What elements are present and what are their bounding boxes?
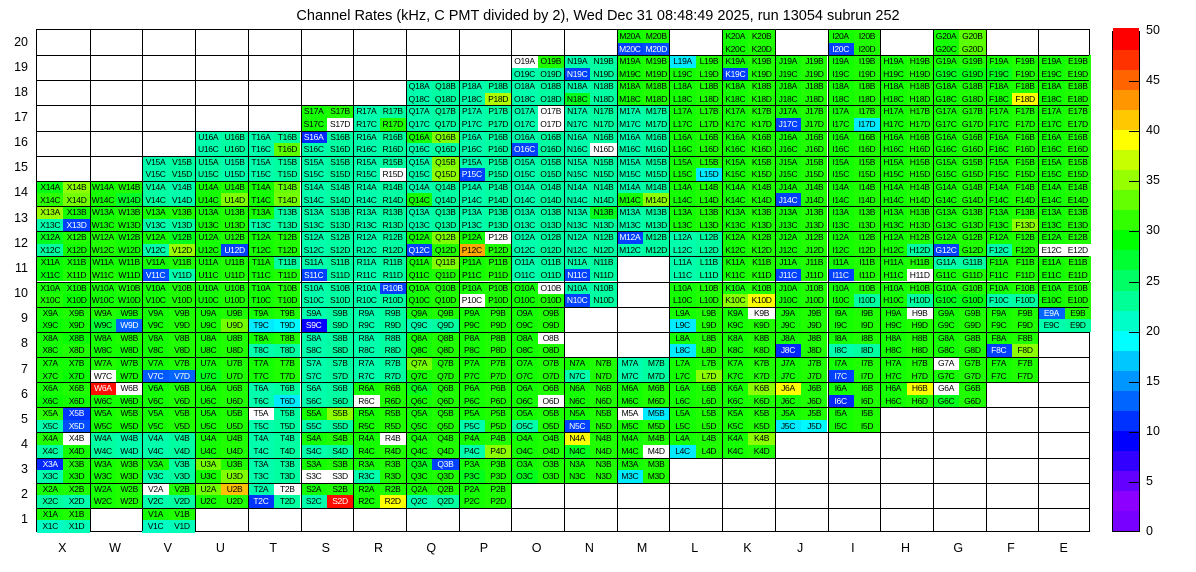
channel-cell[interactable]: O18D <box>538 93 564 106</box>
channel-cell[interactable]: G14C <box>933 193 959 206</box>
channel-cell[interactable]: M15D <box>643 168 669 181</box>
channel-cell[interactable]: G7D <box>959 370 985 383</box>
channel-cell[interactable]: S6A <box>301 382 327 395</box>
channel-cell[interactable]: P2A <box>459 483 485 496</box>
channel-cell[interactable]: P3A <box>459 458 485 471</box>
channel-cell[interactable]: T11D <box>274 269 300 282</box>
channel-cell[interactable]: Q14A <box>406 181 432 194</box>
channel-cell[interactable]: J18A <box>775 80 801 93</box>
channel-cell[interactable]: R2A <box>353 483 379 496</box>
channel-cell[interactable]: E11B <box>1065 256 1091 269</box>
channel-cell[interactable]: R14B <box>380 181 406 194</box>
channel-cell[interactable]: F18A <box>986 80 1012 93</box>
channel-cell[interactable]: T4D <box>274 445 300 458</box>
channel-cell[interactable]: L6A <box>669 382 695 395</box>
channel-cell[interactable]: V5C <box>142 420 168 433</box>
channel-cell[interactable]: J13C <box>775 219 801 232</box>
channel-cell[interactable]: K14B <box>748 181 774 194</box>
channel-cell[interactable]: F16D <box>1012 143 1038 156</box>
channel-cell[interactable]: E9D <box>1065 319 1091 332</box>
channel-cell[interactable]: W6D <box>116 395 142 408</box>
channel-cell[interactable]: X8B <box>63 332 89 345</box>
channel-cell[interactable]: F15B <box>1012 156 1038 169</box>
channel-cell[interactable]: K6C <box>722 395 748 408</box>
channel-cell[interactable]: J7B <box>801 357 827 370</box>
channel-cell[interactable]: X4D <box>63 445 89 458</box>
channel-cell[interactable]: J14A <box>775 181 801 194</box>
channel-cell[interactable]: W6B <box>116 382 142 395</box>
channel-cell[interactable]: U13C <box>195 219 221 232</box>
channel-cell[interactable]: U2B <box>221 483 247 496</box>
channel-cell[interactable]: W2C <box>90 495 116 508</box>
channel-cell[interactable]: L8D <box>696 344 722 357</box>
channel-cell[interactable]: F12A <box>986 231 1012 244</box>
channel-cell[interactable]: I9D <box>854 319 880 332</box>
channel-cell[interactable]: H12D <box>907 244 933 257</box>
channel-cell[interactable]: X7B <box>63 357 89 370</box>
channel-cell[interactable]: V14A <box>142 181 168 194</box>
channel-cell[interactable]: J16C <box>775 143 801 156</box>
channel-cell[interactable]: E18A <box>1038 80 1064 93</box>
channel-cell[interactable]: P6B <box>485 382 511 395</box>
channel-cell[interactable]: H15C <box>880 168 906 181</box>
channel-cell[interactable]: Q11A <box>406 256 432 269</box>
channel-cell[interactable]: I10B <box>854 282 880 295</box>
channel-cell[interactable]: M20C <box>617 43 643 56</box>
channel-cell[interactable]: J8B <box>801 332 827 345</box>
channel-cell[interactable]: V1D <box>169 520 195 533</box>
channel-cell[interactable]: T5C <box>248 420 274 433</box>
channel-cell[interactable]: L18A <box>669 80 695 93</box>
channel-cell[interactable]: T15C <box>248 168 274 181</box>
channel-cell[interactable]: F11B <box>1012 256 1038 269</box>
channel-cell[interactable]: G20B <box>959 30 985 43</box>
channel-cell[interactable]: E15B <box>1065 156 1091 169</box>
channel-cell[interactable]: Q12B <box>432 231 458 244</box>
channel-cell[interactable]: L15D <box>696 168 722 181</box>
channel-cell[interactable]: W4C <box>90 445 116 458</box>
channel-cell[interactable]: L9C <box>669 319 695 332</box>
channel-cell[interactable]: Q17B <box>432 105 458 118</box>
channel-cell[interactable]: R3D <box>380 470 406 483</box>
channel-cell[interactable]: V13A <box>142 206 168 219</box>
channel-cell[interactable]: L4A <box>669 432 695 445</box>
channel-cell[interactable]: S3A <box>301 458 327 471</box>
channel-cell[interactable]: P14B <box>485 181 511 194</box>
channel-cell[interactable]: E11C <box>1038 269 1064 282</box>
channel-cell[interactable]: Q9D <box>432 319 458 332</box>
channel-cell[interactable]: Q3C <box>406 470 432 483</box>
channel-cell[interactable]: E10D <box>1065 294 1091 307</box>
channel-cell[interactable]: P8A <box>459 332 485 345</box>
channel-cell[interactable]: I20C <box>828 43 854 56</box>
channel-cell[interactable]: W7C <box>90 370 116 383</box>
channel-cell[interactable]: K20D <box>748 43 774 56</box>
channel-cell[interactable]: I10A <box>828 282 854 295</box>
channel-cell[interactable]: W7A <box>90 357 116 370</box>
channel-cell[interactable]: H9B <box>907 307 933 320</box>
channel-cell[interactable]: S2D <box>327 495 353 508</box>
channel-cell[interactable]: J19C <box>775 68 801 81</box>
channel-cell[interactable]: K7D <box>748 370 774 383</box>
channel-cell[interactable]: L6D <box>696 395 722 408</box>
channel-cell[interactable]: E15C <box>1038 168 1064 181</box>
channel-cell[interactable]: F12C <box>986 244 1012 257</box>
channel-cell[interactable]: K15D <box>748 168 774 181</box>
channel-cell[interactable]: X2C <box>37 495 63 508</box>
channel-cell[interactable]: X3C <box>37 470 63 483</box>
channel-cell[interactable]: G8C <box>933 344 959 357</box>
channel-cell[interactable]: R13C <box>353 219 379 232</box>
channel-cell[interactable]: G18B <box>959 80 985 93</box>
channel-cell[interactable]: U6A <box>195 382 221 395</box>
channel-cell[interactable]: O4C <box>511 445 537 458</box>
channel-cell[interactable]: J11B <box>801 256 827 269</box>
channel-cell[interactable]: Q11C <box>406 269 432 282</box>
channel-cell[interactable]: N11C <box>564 269 590 282</box>
channel-cell[interactable]: R2D <box>380 495 406 508</box>
channel-cell[interactable]: R4A <box>353 432 379 445</box>
channel-cell[interactable]: L8A <box>669 332 695 345</box>
channel-cell[interactable]: G16B <box>959 131 985 144</box>
channel-cell[interactable]: P11A <box>459 256 485 269</box>
channel-cell[interactable]: P13C <box>459 219 485 232</box>
channel-cell[interactable]: N14C <box>564 193 590 206</box>
channel-cell[interactable]: F9A <box>986 307 1012 320</box>
channel-cell[interactable]: O4D <box>538 445 564 458</box>
channel-cell[interactable]: L12D <box>696 244 722 257</box>
channel-cell[interactable]: V15B <box>169 156 195 169</box>
channel-cell[interactable]: K8B <box>748 332 774 345</box>
channel-cell[interactable]: I15D <box>854 168 880 181</box>
channel-cell[interactable]: G18A <box>933 80 959 93</box>
channel-cell[interactable]: W10D <box>116 294 142 307</box>
channel-cell[interactable]: W12D <box>116 244 142 257</box>
channel-cell[interactable]: S13C <box>301 219 327 232</box>
channel-cell[interactable]: R16B <box>380 131 406 144</box>
channel-cell[interactable]: N16A <box>564 131 590 144</box>
channel-cell[interactable]: V12B <box>169 231 195 244</box>
channel-cell[interactable]: O19A <box>511 55 537 68</box>
channel-cell[interactable]: L17D <box>696 118 722 131</box>
channel-cell[interactable]: T11C <box>248 269 274 282</box>
channel-cell[interactable]: F13A <box>986 206 1012 219</box>
channel-cell[interactable]: L17A <box>669 105 695 118</box>
channel-cell[interactable]: W2B <box>116 483 142 496</box>
channel-cell[interactable]: N3A <box>564 458 590 471</box>
channel-cell[interactable]: H7D <box>907 370 933 383</box>
channel-cell[interactable]: E14A <box>1038 181 1064 194</box>
channel-cell[interactable]: G6A <box>933 382 959 395</box>
channel-cell[interactable]: J19B <box>801 55 827 68</box>
channel-cell[interactable]: R10C <box>353 294 379 307</box>
channel-cell[interactable]: E16B <box>1065 131 1091 144</box>
channel-cell[interactable]: J9C <box>775 319 801 332</box>
channel-cell[interactable]: V15C <box>142 168 168 181</box>
channel-cell[interactable]: Q18A <box>406 80 432 93</box>
channel-cell[interactable]: J17A <box>775 105 801 118</box>
channel-cell[interactable]: U4C <box>195 445 221 458</box>
channel-cell[interactable]: Q8B <box>432 332 458 345</box>
channel-cell[interactable]: E17B <box>1065 105 1091 118</box>
channel-cell[interactable]: L17C <box>669 118 695 131</box>
channel-cell[interactable]: S5B <box>327 407 353 420</box>
channel-cell[interactable]: K17C <box>722 118 748 131</box>
channel-cell[interactable]: G12C <box>933 244 959 257</box>
channel-cell[interactable]: Q4C <box>406 445 432 458</box>
channel-cell[interactable]: L10A <box>669 282 695 295</box>
channel-cell[interactable]: K12D <box>748 244 774 257</box>
channel-cell[interactable]: O8A <box>511 332 537 345</box>
channel-cell[interactable]: F9D <box>1012 319 1038 332</box>
channel-cell[interactable]: X10B <box>63 282 89 295</box>
channel-cell[interactable]: R10D <box>380 294 406 307</box>
channel-cell[interactable]: N11D <box>590 269 616 282</box>
channel-cell[interactable]: R11D <box>380 269 406 282</box>
channel-cell[interactable]: X4C <box>37 445 63 458</box>
channel-cell[interactable]: G19C <box>933 68 959 81</box>
channel-cell[interactable]: R15D <box>380 168 406 181</box>
channel-cell[interactable]: N10D <box>590 294 616 307</box>
channel-cell[interactable]: V14B <box>169 181 195 194</box>
channel-cell[interactable]: M12D <box>643 244 669 257</box>
channel-cell[interactable]: R12B <box>380 231 406 244</box>
channel-cell[interactable]: U3D <box>221 470 247 483</box>
channel-cell[interactable]: N13A <box>564 206 590 219</box>
channel-cell[interactable]: O6D <box>538 395 564 408</box>
channel-cell[interactable]: H7A <box>880 357 906 370</box>
channel-cell[interactable]: H9D <box>907 319 933 332</box>
channel-cell[interactable]: S6D <box>327 395 353 408</box>
channel-cell[interactable]: L5B <box>696 407 722 420</box>
channel-cell[interactable]: H15A <box>880 156 906 169</box>
channel-cell[interactable]: M18C <box>617 93 643 106</box>
channel-cell[interactable]: N15A <box>564 156 590 169</box>
channel-cell[interactable]: J5B <box>801 407 827 420</box>
channel-cell[interactable]: X12B <box>63 231 89 244</box>
channel-cell[interactable]: O9C <box>511 319 537 332</box>
channel-cell[interactable]: Q15C <box>406 168 432 181</box>
channel-cell[interactable]: Q5C <box>406 420 432 433</box>
channel-cell[interactable]: O11B <box>538 256 564 269</box>
channel-cell[interactable]: H15B <box>907 156 933 169</box>
channel-cell[interactable]: L13B <box>696 206 722 219</box>
channel-cell[interactable]: L6C <box>669 395 695 408</box>
channel-cell[interactable]: I11B <box>854 256 880 269</box>
channel-cell[interactable]: J10C <box>775 294 801 307</box>
channel-cell[interactable]: F14B <box>1012 181 1038 194</box>
channel-cell[interactable]: Q15A <box>406 156 432 169</box>
channel-cell[interactable]: X6C <box>37 395 63 408</box>
channel-cell[interactable]: G16D <box>959 143 985 156</box>
channel-cell[interactable]: P16D <box>485 143 511 156</box>
channel-cell[interactable]: M3B <box>643 458 669 471</box>
channel-cell[interactable]: I12B <box>854 231 880 244</box>
channel-cell[interactable]: I14A <box>828 181 854 194</box>
channel-cell[interactable]: P6D <box>485 395 511 408</box>
channel-cell[interactable]: T2D <box>274 495 300 508</box>
channel-cell[interactable]: J6B <box>801 382 827 395</box>
channel-cell[interactable]: I18D <box>854 93 880 106</box>
channel-cell[interactable]: G6B <box>959 382 985 395</box>
channel-cell[interactable]: K15B <box>748 156 774 169</box>
channel-cell[interactable]: M20B <box>643 30 669 43</box>
channel-cell[interactable]: U10B <box>221 282 247 295</box>
channel-cell[interactable]: T12B <box>274 231 300 244</box>
channel-cell[interactable]: E12A <box>1038 231 1064 244</box>
channel-cell[interactable]: Q9B <box>432 307 458 320</box>
channel-cell[interactable]: Q8C <box>406 344 432 357</box>
channel-cell[interactable]: K11A <box>722 256 748 269</box>
channel-cell[interactable]: L15A <box>669 156 695 169</box>
channel-cell[interactable]: G20A <box>933 30 959 43</box>
channel-cell[interactable]: I13C <box>828 219 854 232</box>
channel-cell[interactable]: N12C <box>564 244 590 257</box>
channel-cell[interactable]: J7C <box>775 370 801 383</box>
channel-cell[interactable]: M14A <box>617 181 643 194</box>
channel-cell[interactable]: L16D <box>696 143 722 156</box>
channel-cell[interactable]: S15B <box>327 156 353 169</box>
channel-cell[interactable]: Q5B <box>432 407 458 420</box>
channel-cell[interactable]: K19A <box>722 55 748 68</box>
channel-cell[interactable]: J18D <box>801 93 827 106</box>
channel-cell[interactable]: G17B <box>959 105 985 118</box>
channel-cell[interactable]: E11D <box>1065 269 1091 282</box>
channel-cell[interactable]: O19B <box>538 55 564 68</box>
channel-cell[interactable]: N13C <box>564 219 590 232</box>
channel-cell[interactable]: Q3D <box>432 470 458 483</box>
channel-cell[interactable]: W13D <box>116 219 142 232</box>
channel-cell[interactable]: O17A <box>511 105 537 118</box>
channel-cell[interactable]: S11B <box>327 256 353 269</box>
channel-cell[interactable]: E12C <box>1038 244 1064 257</box>
channel-cell[interactable]: V7D <box>169 370 195 383</box>
channel-cell[interactable]: U8A <box>195 332 221 345</box>
channel-cell[interactable]: M4D <box>643 445 669 458</box>
channel-cell[interactable]: V7C <box>142 370 168 383</box>
channel-cell[interactable]: R3C <box>353 470 379 483</box>
channel-cell[interactable]: T16A <box>248 131 274 144</box>
channel-cell[interactable]: V2D <box>169 495 195 508</box>
channel-cell[interactable]: O13C <box>511 219 537 232</box>
channel-cell[interactable]: V15A <box>142 156 168 169</box>
channel-cell[interactable]: W8C <box>90 344 116 357</box>
channel-cell[interactable]: F19B <box>1012 55 1038 68</box>
channel-cell[interactable]: E18D <box>1065 93 1091 106</box>
channel-cell[interactable]: E9A <box>1038 307 1064 320</box>
channel-cell[interactable]: I14C <box>828 193 854 206</box>
channel-cell[interactable]: V2C <box>142 495 168 508</box>
channel-cell[interactable]: T13C <box>248 219 274 232</box>
channel-cell[interactable]: N4C <box>564 445 590 458</box>
channel-cell[interactable]: U7B <box>221 357 247 370</box>
channel-cell[interactable]: O15D <box>538 168 564 181</box>
channel-cell[interactable]: H8C <box>880 344 906 357</box>
channel-cell[interactable]: I5A <box>828 407 854 420</box>
channel-cell[interactable]: P5C <box>459 420 485 433</box>
channel-cell[interactable]: U13B <box>221 206 247 219</box>
channel-cell[interactable]: M20D <box>643 43 669 56</box>
channel-cell[interactable]: P10C <box>459 294 485 307</box>
channel-cell[interactable]: T10D <box>274 294 300 307</box>
channel-cell[interactable]: K10B <box>748 282 774 295</box>
channel-cell[interactable]: I20D <box>854 43 880 56</box>
channel-cell[interactable]: S4D <box>327 445 353 458</box>
channel-cell[interactable]: O7C <box>511 370 537 383</box>
channel-cell[interactable]: H11B <box>907 256 933 269</box>
channel-cell[interactable]: W6C <box>90 395 116 408</box>
channel-cell[interactable]: L19D <box>696 68 722 81</box>
channel-cell[interactable]: T6C <box>248 395 274 408</box>
channel-cell[interactable]: M7C <box>617 370 643 383</box>
channel-cell[interactable]: L4C <box>669 445 695 458</box>
channel-cell[interactable]: J11C <box>775 269 801 282</box>
channel-cell[interactable]: T14A <box>248 181 274 194</box>
channel-cell[interactable]: L14B <box>696 181 722 194</box>
channel-cell[interactable]: E14B <box>1065 181 1091 194</box>
channel-cell[interactable]: U3A <box>195 458 221 471</box>
channel-cell[interactable]: G8D <box>959 344 985 357</box>
channel-cell[interactable]: S3C <box>301 470 327 483</box>
channel-cell[interactable]: O6C <box>511 395 537 408</box>
channel-cell[interactable]: Q17A <box>406 105 432 118</box>
channel-cell[interactable]: J8C <box>775 344 801 357</box>
channel-cell[interactable]: T12A <box>248 231 274 244</box>
channel-cell[interactable]: Q18D <box>432 93 458 106</box>
channel-cell[interactable]: M12C <box>617 244 643 257</box>
channel-cell[interactable]: L10D <box>696 294 722 307</box>
channel-cell[interactable]: T4B <box>274 432 300 445</box>
channel-cell[interactable]: I9B <box>854 307 880 320</box>
channel-cell[interactable]: J5A <box>775 407 801 420</box>
channel-cell[interactable]: S4A <box>301 432 327 445</box>
channel-cell[interactable]: G15B <box>959 156 985 169</box>
channel-cell[interactable]: J15D <box>801 168 827 181</box>
channel-cell[interactable]: L19A <box>669 55 695 68</box>
channel-cell[interactable]: S13B <box>327 206 353 219</box>
channel-cell[interactable]: S3D <box>327 470 353 483</box>
channel-cell[interactable]: I17D <box>854 118 880 131</box>
channel-cell[interactable]: T3A <box>248 458 274 471</box>
channel-cell[interactable]: R4C <box>353 445 379 458</box>
channel-cell[interactable]: T8B <box>274 332 300 345</box>
channel-cell[interactable]: F15A <box>986 156 1012 169</box>
channel-cell[interactable]: X4B <box>63 432 89 445</box>
channel-cell[interactable]: O17D <box>538 118 564 131</box>
channel-cell[interactable]: I6C <box>828 395 854 408</box>
channel-cell[interactable]: N3B <box>590 458 616 471</box>
channel-cell[interactable]: J14B <box>801 181 827 194</box>
channel-cell[interactable]: H13A <box>880 206 906 219</box>
channel-cell[interactable]: H17D <box>907 118 933 131</box>
channel-cell[interactable]: W7D <box>116 370 142 383</box>
channel-cell[interactable]: K17D <box>748 118 774 131</box>
channel-cell[interactable]: K5B <box>748 407 774 420</box>
channel-cell[interactable]: T6B <box>274 382 300 395</box>
channel-cell[interactable]: Q6C <box>406 395 432 408</box>
channel-cell[interactable]: M5D <box>643 420 669 433</box>
channel-cell[interactable]: M17A <box>617 105 643 118</box>
channel-cell[interactable]: M14D <box>643 193 669 206</box>
channel-cell[interactable]: U16B <box>221 131 247 144</box>
channel-cell[interactable]: V13C <box>142 219 168 232</box>
channel-cell[interactable]: W3D <box>116 470 142 483</box>
channel-cell[interactable]: W4D <box>116 445 142 458</box>
channel-cell[interactable]: W7B <box>116 357 142 370</box>
channel-cell[interactable]: L7A <box>669 357 695 370</box>
channel-cell[interactable]: I5D <box>854 420 880 433</box>
channel-cell[interactable]: U14A <box>195 181 221 194</box>
